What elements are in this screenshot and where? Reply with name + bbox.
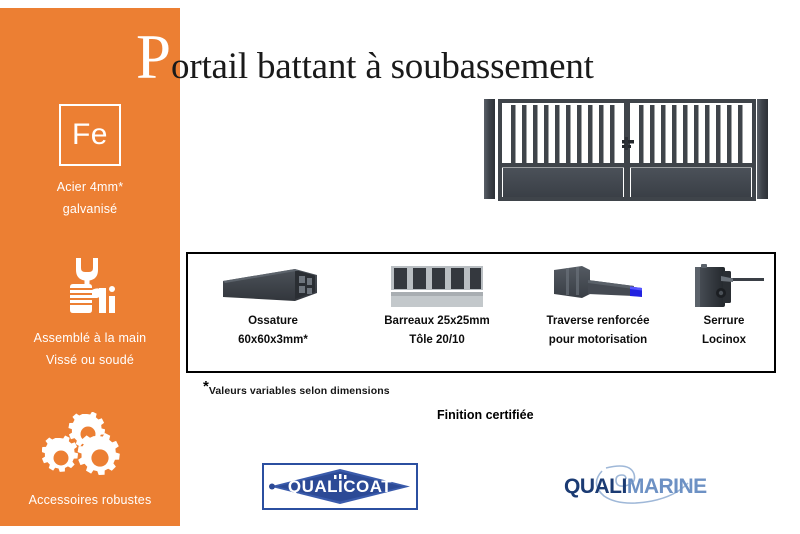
specifications-box: Ossature 60x60x3mm* — [186, 252, 776, 373]
spec-item-traverse: Traverse renforcée pour motorisation — [522, 254, 674, 371]
spec-item-ossature-line2: 60x60x3mm* — [194, 331, 352, 350]
sidebar-feature-steel-line2: galvanisé — [0, 198, 180, 220]
page-title: Portail battant à soubassement — [136, 28, 594, 86]
svg-text:QUALICOAT: QUALICOAT — [288, 477, 392, 496]
double-swing-gate-illustration — [478, 93, 774, 205]
page-title-dropcap: P — [136, 22, 171, 92]
spec-item-serrure: Serrure Locinox — [674, 254, 774, 371]
qualimarine-logo: QUALIMARINE — [560, 463, 710, 510]
spec-item-ossature-line1: Ossature — [194, 312, 352, 331]
footnote-text: Valeurs variables selon dimensions — [209, 385, 390, 397]
qualicoat-logo: QUALICOAT — [262, 463, 418, 510]
steel-profile-icon — [194, 262, 352, 312]
fe-element-icon: Fe — [59, 104, 121, 166]
spec-item-barreaux-line2: Tôle 20/10 — [352, 331, 522, 350]
spec-item-barreaux: Barreaux 25x25mm Tôle 20/10 — [352, 254, 522, 371]
qualimarine-word-quali: QUALI — [564, 475, 627, 498]
certification-title: Finition certifiée — [437, 408, 534, 422]
wrench-hand-icon — [0, 256, 180, 321]
spec-item-ossature: Ossature 60x60x3mm* — [194, 254, 352, 371]
product-sheet-page: Fe Acier 4mm* galvanisé — [0, 0, 800, 534]
footnote: *Valeurs variables selon dimensions — [203, 381, 390, 399]
gears-icon — [0, 412, 180, 483]
spec-item-barreaux-line1: Barreaux 25x25mm — [352, 312, 522, 331]
sidebar-feature-assembly-line1: Assemblé à la main — [0, 327, 180, 349]
sidebar-feature-steel: Fe Acier 4mm* galvanisé — [0, 104, 180, 220]
spec-item-traverse-line1: Traverse renforcée — [522, 312, 674, 331]
qualimarine-wordmark: QUALIMARINE — [564, 476, 707, 497]
bars-sheet-icon — [352, 262, 522, 312]
fe-badge-label: Fe — [72, 120, 108, 150]
lock-icon — [674, 262, 774, 312]
qualimarine-word-marine: MARINE — [627, 475, 707, 498]
spec-item-traverse-line2: pour motorisation — [522, 331, 674, 350]
sidebar-feature-assembly-line2: Vissé ou soudé — [0, 349, 180, 371]
sidebar-feature-assembly: Assemblé à la main Vissé ou soudé — [0, 256, 180, 371]
spec-item-serrure-line1: Serrure — [674, 312, 774, 331]
spec-item-serrure-line2: Locinox — [674, 331, 774, 350]
sidebar-feature-steel-line1: Acier 4mm* — [0, 176, 180, 198]
reinforced-crossbar-icon — [522, 262, 674, 312]
page-title-rest: ortail battant à soubassement — [171, 46, 594, 87]
sidebar-feature-accessories: Accessoires robustes — [0, 412, 180, 511]
sidebar-feature-accessories-line1: Accessoires robustes — [0, 489, 180, 511]
